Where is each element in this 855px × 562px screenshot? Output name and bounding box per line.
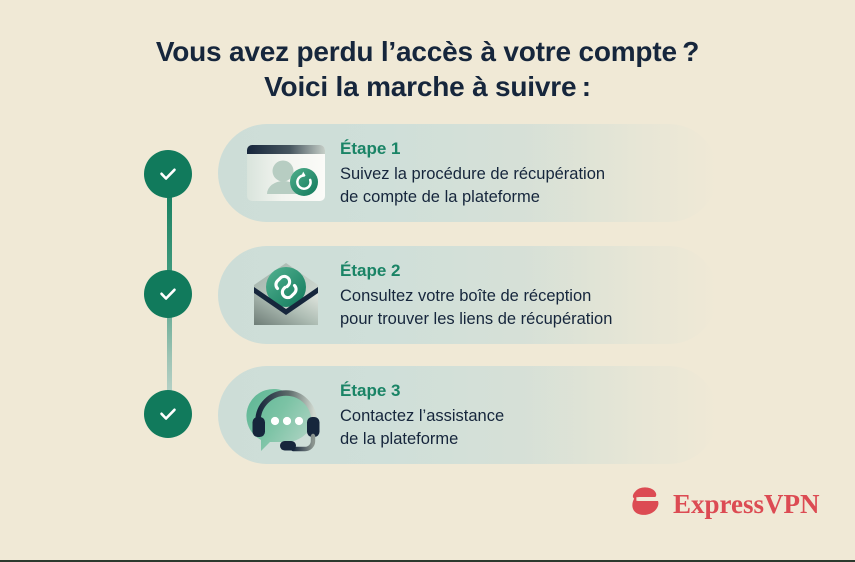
step-card-2: Étape 2 Consultez votre boîte de récepti…: [218, 246, 718, 344]
timeline-node-step-3: [144, 390, 192, 438]
step-2-desc-line-2: pour trouver les liens de récupération: [340, 308, 708, 331]
step-1-heading: Étape 1: [340, 138, 708, 159]
step-2-desc-line-1: Consultez votre boîte de réception: [340, 287, 591, 305]
check-icon: [156, 402, 180, 426]
step-1-desc-line-1: Suivez la procédure de récupération: [340, 165, 605, 183]
step-3-desc-line-2: de la plateforme: [340, 428, 708, 451]
page-title: Vous avez perdu l’accès à votre compte ?…: [0, 34, 855, 104]
step-2-description: Consultez votre boîte de réception pour …: [340, 285, 708, 330]
step-1-text: Étape 1 Suivez la procédure de récupérat…: [340, 138, 718, 208]
browser-account-recovery-icon: [232, 124, 340, 222]
infographic-canvas: Vous avez perdu l’accès à votre compte ?…: [0, 0, 855, 560]
step-2-heading: Étape 2: [340, 260, 708, 281]
step-1-description: Suivez la procédure de récupération de c…: [340, 163, 708, 208]
step-3-description: Contactez l’assistance de la plateforme: [340, 405, 708, 450]
timeline-node-step-2: [144, 270, 192, 318]
step-3-text: Étape 3 Contactez l’assistance de la pla…: [340, 380, 718, 450]
check-icon: [156, 282, 180, 306]
steps-timeline: [144, 150, 194, 450]
step-card-1: Étape 1 Suivez la procédure de récupérat…: [218, 124, 718, 222]
check-icon: [156, 162, 180, 186]
envelope-link-icon: [232, 246, 340, 344]
step-card-3: Étape 3 Contactez l’assistance de la pla…: [218, 366, 718, 464]
expressvpn-e-mark: [628, 485, 664, 522]
step-1-desc-line-2: de compte de la plateforme: [340, 186, 708, 209]
expressvpn-logo: ExpressVPN: [628, 485, 820, 522]
title-line-2: Voici la marche à suivre :: [0, 69, 855, 104]
timeline-node-step-1: [144, 150, 192, 198]
step-3-heading: Étape 3: [340, 380, 708, 401]
step-2-text: Étape 2 Consultez votre boîte de récepti…: [340, 260, 718, 330]
expressvpn-wordmark: ExpressVPN: [673, 489, 820, 519]
title-line-1: Vous avez perdu l’accès à votre compte ?: [0, 34, 855, 69]
step-3-desc-line-1: Contactez l’assistance: [340, 407, 504, 425]
headset-chat-support-icon: [232, 366, 340, 464]
